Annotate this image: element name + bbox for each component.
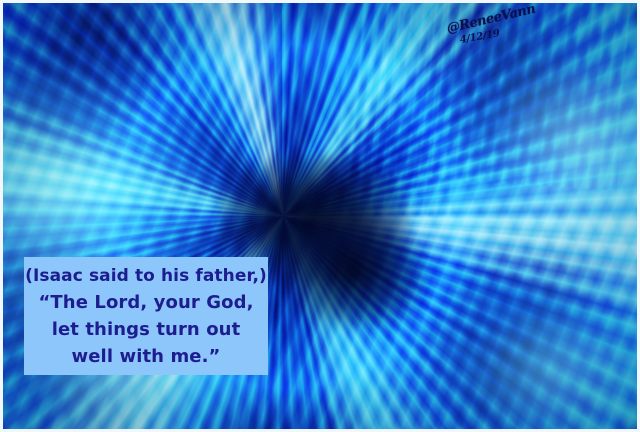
artwork-canvas: @ReneeVann 4/12/19 (Isaac said to his fa… bbox=[3, 3, 637, 429]
caption-line-2: “The Lord, your God, bbox=[38, 290, 253, 316]
caption-box: (Isaac said to his father,) “The Lord, y… bbox=[24, 257, 268, 375]
caption-line-4: well with me.” bbox=[72, 344, 221, 370]
caption-line-1: (Isaac said to his father,) bbox=[25, 263, 267, 289]
caption-line-3: let things turn out bbox=[52, 317, 241, 343]
image-frame: @ReneeVann 4/12/19 (Isaac said to his fa… bbox=[0, 0, 640, 432]
